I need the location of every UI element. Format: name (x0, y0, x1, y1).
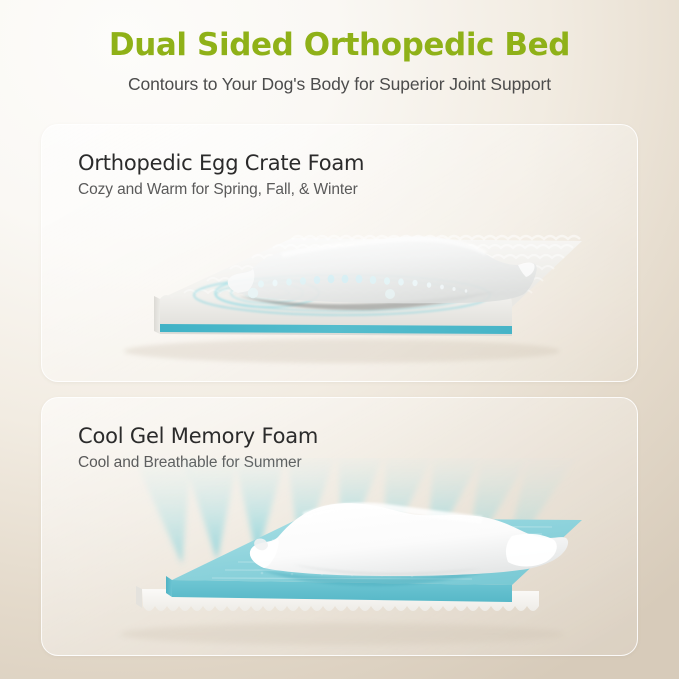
card-title: Cool Gel Memory Foam (78, 423, 318, 449)
feature-card-gel-memory-foam: Cool Gel Memory Foam Cool and Breathable… (41, 397, 638, 656)
foam-ground-shadow (124, 339, 560, 363)
foam-left-face (154, 296, 160, 334)
card-subtitle: Cozy and Warm for Spring, Fall, & Winter (78, 179, 358, 201)
gel-memory-foam-illustration (42, 458, 638, 656)
feature-card-egg-crate-foam: Orthopedic Egg Crate Foam Cozy and Warm … (41, 124, 638, 382)
page-title: Dual Sided Orthopedic Bed (0, 24, 679, 66)
egg-crate-foam-illustration (42, 203, 638, 382)
page-subtitle: Contours to Your Dog's Body for Superior… (0, 70, 679, 98)
infographic-page: { "header": { "title": "Dual Sided Ortho… (0, 0, 679, 679)
base-foam-left-face (136, 586, 142, 608)
gel-ground-shadow (120, 623, 564, 645)
page-header: Dual Sided Orthopedic Bed Contours to Yo… (0, 24, 679, 98)
card-title: Orthopedic Egg Crate Foam (78, 150, 364, 176)
